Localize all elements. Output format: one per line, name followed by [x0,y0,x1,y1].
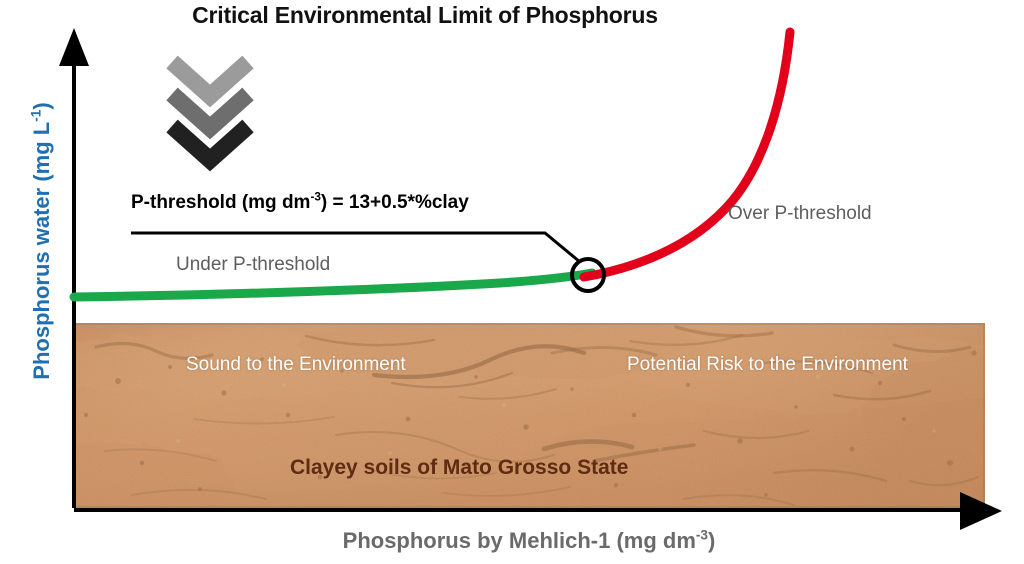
chevron-down-icon-3 [172,126,248,160]
formula-prefix: P-threshold (mg dm [131,192,310,213]
curve-under-threshold [74,273,592,297]
label-under-threshold: Under P-threshold [176,254,330,276]
curve-over-threshold [584,32,790,277]
threshold-marker-circle [572,259,604,291]
page-title: Critical Environmental Limit of Phosphor… [0,2,850,29]
soil-caption-region: Clayey soils of Mato Grosso State [290,456,628,480]
soil-caption-sound: Sound to the Environment [186,354,406,376]
figure-canvas: Critical Environmental Limit of Phosphor… [0,0,1024,564]
label-over-threshold: Over P-threshold [728,203,872,225]
x-axis-label-tail: ) [708,528,715,553]
chevron-down-icon-2 [172,94,248,128]
formula-suffix: ) = 13+0.5*%clay [321,192,469,213]
y-axis-label-tail: ) [29,102,54,109]
p-threshold-formula: P-threshold (mg dm-3) = 13+0.5*%clay [131,192,469,214]
formula-superscript: -3 [310,191,320,204]
y-axis-arrowhead [59,28,89,66]
x-axis-label: Phosphorus by Mehlich-1 (mg dm-3) [74,528,984,554]
x-axis-label-superscript: -3 [696,528,708,543]
soil-photo-panel: Sound to the Environment Potential Risk … [74,323,985,508]
chevron-down-icon-1 [172,62,248,96]
x-axis-label-main: Phosphorus by Mehlich-1 (mg dm [343,528,696,553]
y-axis-label-main: Phosphorus water (mg L [29,122,54,380]
y-axis-label-superscript: -1 [29,110,44,122]
soil-caption-risk: Potential Risk to the Environment [627,354,908,376]
y-axis-label: Phosphorus water (mg L-1) [29,31,55,451]
chevron-down-icon-group [172,62,248,160]
soil-texture-image [74,323,985,508]
